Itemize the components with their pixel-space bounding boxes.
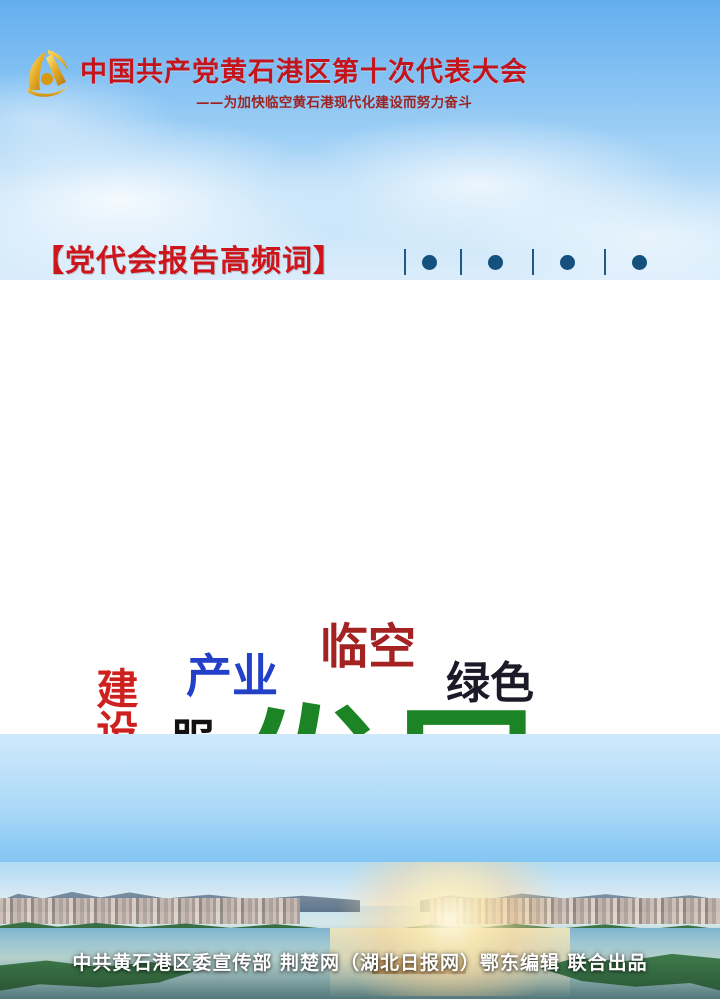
decorative-dots-and-bars xyxy=(404,248,704,276)
wordcloud-word: 临空 xyxy=(320,623,416,671)
wordcloud-word: 绿色 xyxy=(446,662,534,706)
party-emblem-hammer-sickle-icon xyxy=(22,46,74,100)
wordcloud-panel: 发展 临空 产业 绿色 建设 服务 全面 城市 城市 产业 项目 项目 全面 绿… xyxy=(0,280,720,734)
footer-credits: 中共黄石港区委宣传部 荆楚网（湖北日报网）鄂东编辑 联合出品 xyxy=(0,948,720,975)
bottom-sky-background xyxy=(0,734,720,874)
city-lake-panorama-photo xyxy=(0,862,720,999)
section-heading: 【党代会报告高频词】 xyxy=(34,236,344,280)
page-subtitle: ——为加快临空黄石港现代化建设而努力奋斗 xyxy=(196,91,666,111)
page-title: 中国共产党黄石港区第十次代表大会 xyxy=(80,50,520,89)
decorative-arc xyxy=(0,734,720,874)
poster-root: 中国共产党黄石港区第十次代表大会 ——为加快临空黄石港现代化建设而努力奋斗 【党… xyxy=(0,0,720,999)
wordcloud-word: 产业 xyxy=(186,653,278,699)
